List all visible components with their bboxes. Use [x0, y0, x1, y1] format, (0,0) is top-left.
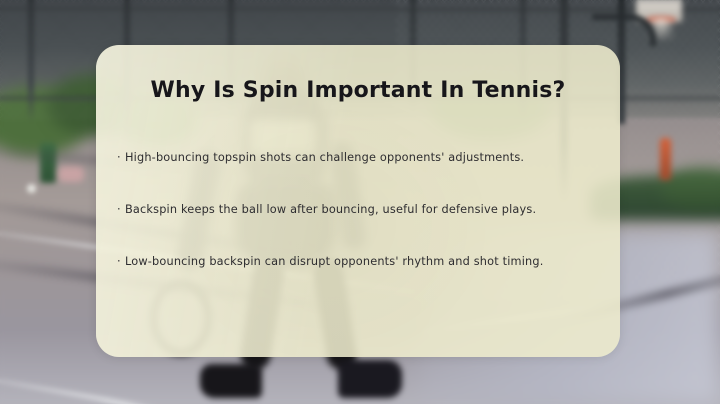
- list-item-text: High-bouncing topspin shots can challeng…: [125, 142, 592, 173]
- tennis-ball: [27, 184, 36, 193]
- page-title: Why Is Spin Important In Tennis?: [96, 78, 620, 103]
- fire-hydrant: [660, 138, 671, 180]
- player-shoe: [338, 360, 402, 398]
- bullet-dot-icon: ·: [117, 194, 125, 225]
- list-item-text: Low-bouncing backspin can disrupt oppone…: [125, 246, 592, 277]
- fence-post: [28, 0, 34, 122]
- player-shoe: [200, 364, 262, 398]
- list-item: · Low-bouncing backspin can disrupt oppo…: [117, 246, 592, 277]
- bullet-dot-icon: ·: [117, 246, 125, 277]
- list-item: · High-bouncing topspin shots can challe…: [117, 142, 592, 173]
- sports-bag: [58, 166, 84, 182]
- list-item: · Backspin keeps the ball low after boun…: [117, 194, 592, 225]
- content-card: Why Is Spin Important In Tennis? · High-…: [96, 45, 620, 357]
- trash-bin: [40, 143, 56, 183]
- fence-rail: [0, 8, 720, 13]
- slide-canvas: Why Is Spin Important In Tennis? · High-…: [0, 0, 720, 404]
- bullet-list: · High-bouncing topspin shots can challe…: [117, 142, 592, 277]
- bullet-dot-icon: ·: [117, 142, 125, 173]
- list-item-text: Backspin keeps the ball low after bounci…: [125, 194, 592, 225]
